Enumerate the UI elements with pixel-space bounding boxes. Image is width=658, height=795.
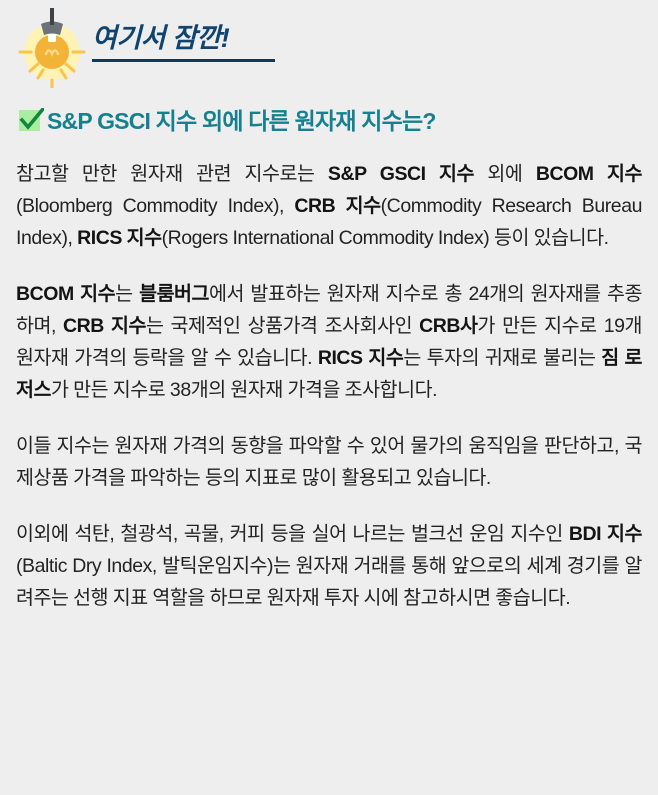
body-text: (Bloomberg Commodity Index),	[16, 195, 294, 217]
emphasis-text: BDI 지수	[569, 523, 642, 545]
callout-title-block: 여기서 잠깐!	[92, 8, 275, 62]
body-text: 외에	[474, 163, 536, 185]
para-bdi: 이외에 석탄, 철광석, 곡물, 커피 등을 실어 나르는 벌크선 운임 지수인…	[16, 518, 642, 614]
para-indices-overview: 참고할 만한 원자재 관련 지수로는 S&P GSCI 지수 외에 BCOM 지…	[16, 158, 642, 254]
emphasis-text: 블룸버그	[139, 283, 209, 305]
emphasis-text: RICS 지수	[77, 227, 161, 249]
body-text: 이들 지수는 원자재 가격의 동향을 파악할 수 있어 물가의 움직임을 판단하…	[16, 435, 642, 489]
body-text: 참고할 만한 원자재 관련 지수로는	[16, 163, 328, 185]
section-heading-text: S&P GSCI 지수 외에 다른 원자재 지수는?	[47, 102, 436, 136]
body-text: 가 만든 지수로 38개의 원자재 가격을 조사합니다.	[51, 379, 437, 401]
para-usage: 이들 지수는 원자재 가격의 동향을 파악할 수 있어 물가의 움직임을 판단하…	[16, 430, 642, 494]
para-index-details: BCOM 지수는 블룸버그에서 발표하는 원자재 지수로 총 24개의 원자재를…	[16, 278, 642, 406]
lightbulb-icon	[16, 8, 88, 88]
emphasis-text: CRB 지수	[294, 195, 380, 217]
emphasis-text: CRB 지수	[63, 315, 146, 337]
article-body: 참고할 만한 원자재 관련 지수로는 S&P GSCI 지수 외에 BCOM 지…	[16, 158, 642, 614]
body-text: (Rogers International Commodity Index) 등…	[162, 227, 609, 249]
body-text: 이외에 석탄, 철광석, 곡물, 커피 등을 실어 나르는 벌크선 운임 지수인	[16, 523, 569, 545]
body-text: (Baltic Dry Index, 발틱운임지수)는 원자재 거래를 통해 앞…	[16, 555, 642, 609]
title-underline	[92, 59, 275, 62]
body-text: 는 투자의 귀재로 불리는	[403, 347, 601, 369]
check-mark-icon	[19, 108, 42, 131]
emphasis-text: BCOM 지수	[536, 163, 642, 185]
emphasis-text: BCOM 지수	[16, 283, 115, 305]
emphasis-text: S&P GSCI 지수	[328, 163, 474, 185]
emphasis-text: CRB사	[419, 315, 477, 337]
body-text: 는	[115, 283, 139, 305]
callout-title: 여기서 잠깐!	[92, 24, 275, 54]
body-text: 는 국제적인 상품가격 조사회사인	[146, 315, 419, 337]
callout-header: 여기서 잠깐!	[16, 0, 642, 88]
article-page: 여기서 잠깐! S&P GSCI 지수 외에 다른 원자재 지수는? 참고할 만…	[0, 0, 658, 795]
section-heading-row: S&P GSCI 지수 외에 다른 원자재 지수는?	[19, 102, 642, 136]
emphasis-text: RICS 지수	[318, 347, 404, 369]
